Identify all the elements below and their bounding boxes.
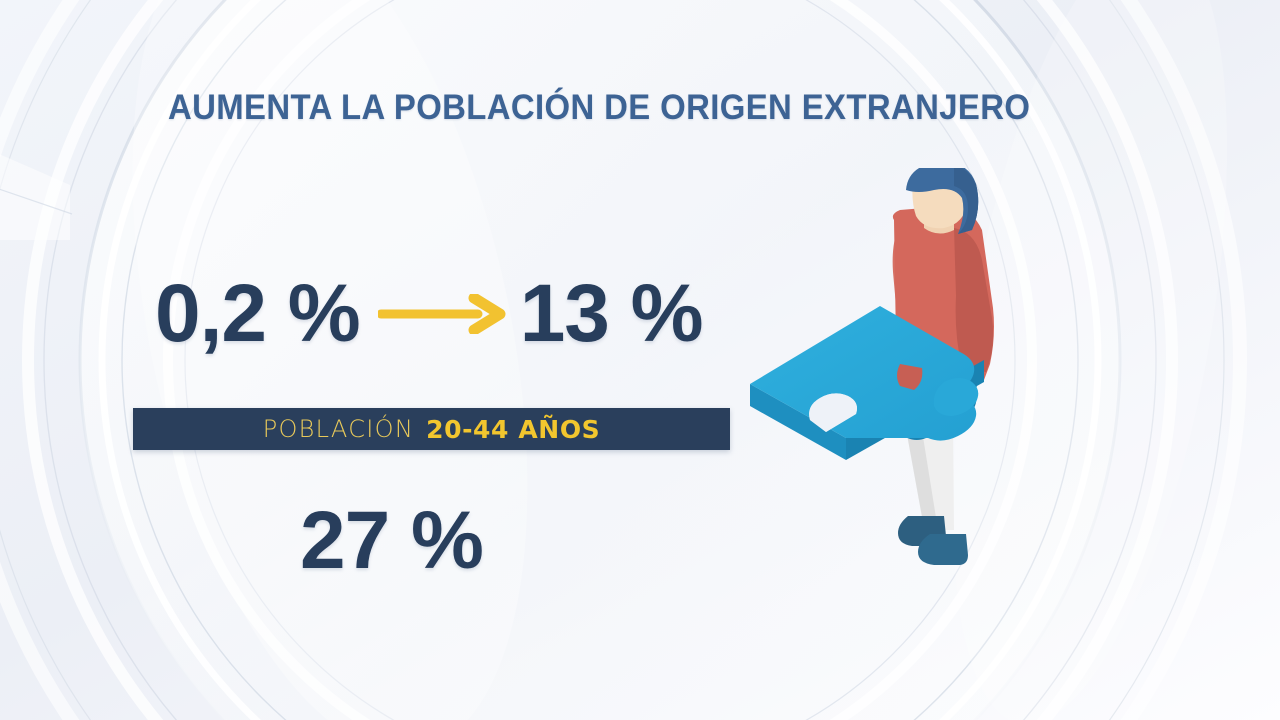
label-bar-highlight: 20-44 AÑOS xyxy=(426,415,600,444)
population-label-bar: POBLACIÓN 20-44 AÑOS xyxy=(133,408,730,450)
stat-lower-value: 27 % xyxy=(300,500,483,582)
infographic-canvas: AUMENTA LA POBLACIÓN DE ORIGEN EXTRANJER… xyxy=(0,0,1280,720)
stat-to-value: 13 % xyxy=(520,273,703,355)
stat-comparison-row: 0,2 % 13 % xyxy=(155,268,735,360)
person-carrying-puzzle-piece-illustration xyxy=(748,168,1026,572)
stat-from-value: 0,2 % xyxy=(155,273,360,355)
label-bar-prefix: POBLACIÓN xyxy=(263,415,414,443)
arrow-right-icon xyxy=(378,294,508,334)
stat-lower-row: 27 % xyxy=(300,495,483,587)
page-title: AUMENTA LA POBLACIÓN DE ORIGEN EXTRANJER… xyxy=(168,88,1070,128)
shoes-shape xyxy=(898,516,968,565)
